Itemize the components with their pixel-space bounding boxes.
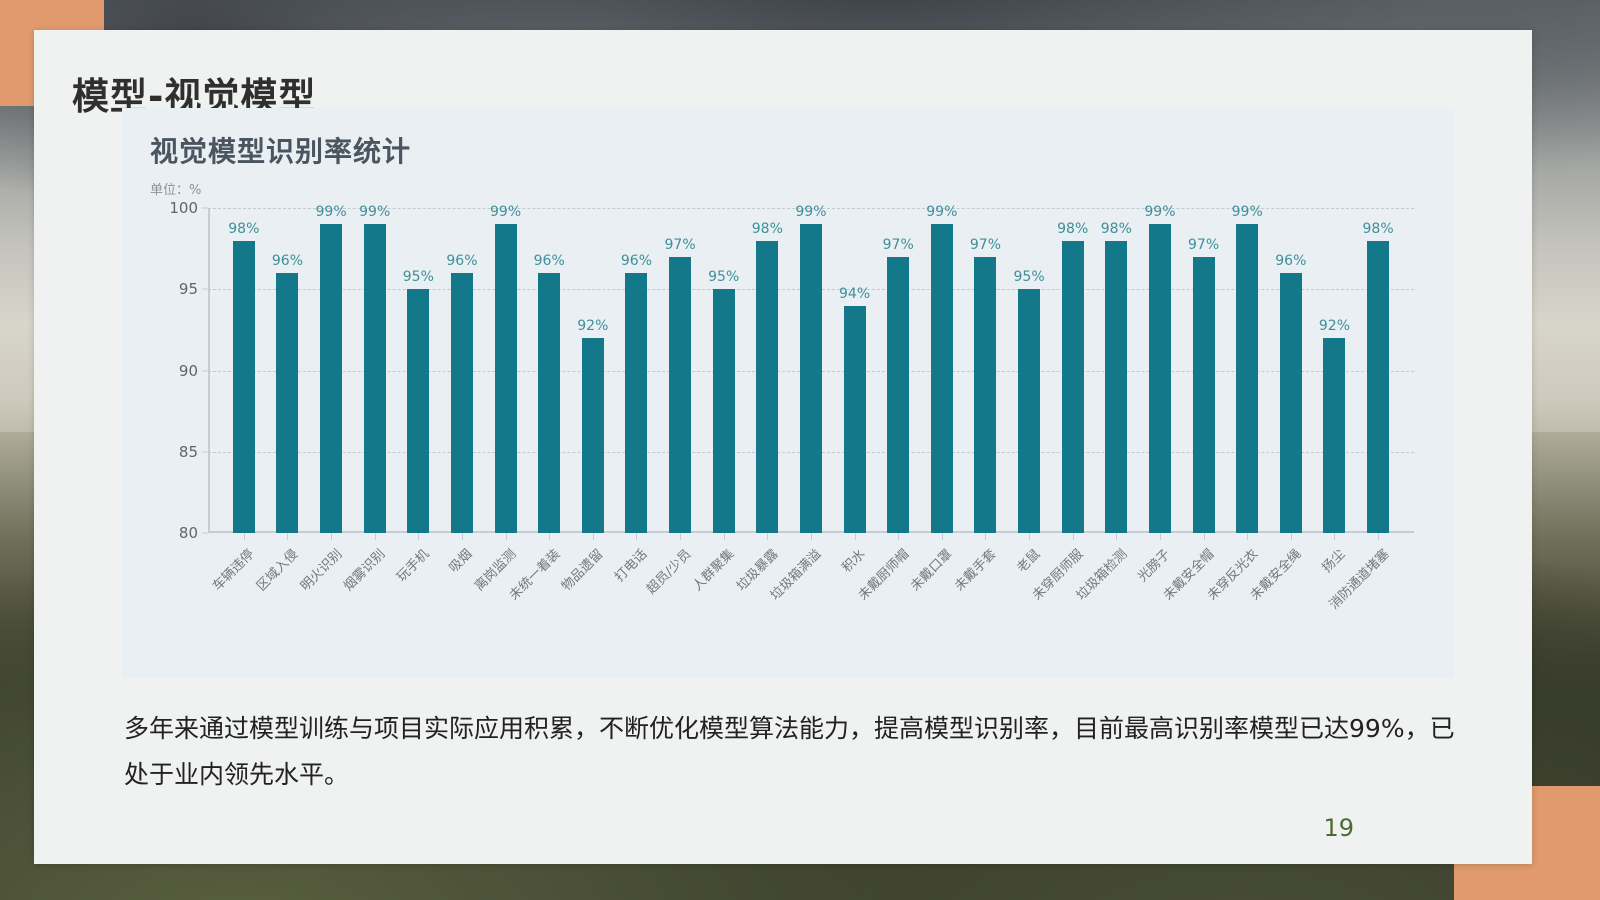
- bar[interactable]: 99%: [931, 224, 953, 533]
- x-axis-tick-label: 扬尘: [1317, 544, 1349, 576]
- x-axis-tick-mark: [375, 533, 376, 540]
- bar-slot: 97%未戴安全帽: [1182, 208, 1226, 533]
- chart-title: 视觉模型识别率统计: [150, 130, 411, 170]
- bar-slot: 92%扬尘: [1313, 208, 1357, 533]
- bar[interactable]: 99%: [495, 224, 517, 533]
- x-axis-tick-label: 区域入侵: [251, 544, 301, 594]
- bar-slot: 99%未戴口罩: [920, 208, 964, 533]
- bar[interactable]: 99%: [800, 224, 822, 533]
- bar-slot: 99%光膀子: [1138, 208, 1182, 533]
- x-axis-tick-mark: [898, 533, 899, 540]
- x-axis-tick-mark: [549, 533, 550, 540]
- bar-value-label: 96%: [1275, 253, 1306, 269]
- bar-value-label: 92%: [577, 318, 608, 334]
- bar-value-label: 97%: [883, 237, 914, 253]
- bar-value-label: 98%: [752, 221, 783, 237]
- bar-value-label: 92%: [1319, 318, 1350, 334]
- bar-slot: 99%垃圾箱满溢: [789, 208, 833, 533]
- x-axis-tick-mark: [680, 533, 681, 540]
- chart-plot-area: 80859095100 98%车辆违停96%区域入侵99%明火识别99%烟雾识别…: [208, 208, 1414, 533]
- bar[interactable]: 97%: [1193, 257, 1215, 533]
- x-axis-tick-mark: [636, 533, 637, 540]
- bar-value-label: 98%: [1101, 221, 1132, 237]
- x-axis-tick-mark: [767, 533, 768, 540]
- bar[interactable]: 98%: [1367, 241, 1389, 534]
- bar-slot: 99%离岗监测: [484, 208, 528, 533]
- x-axis-tick-label: 老鼠: [1011, 544, 1043, 576]
- bar-value-label: 99%: [795, 204, 826, 220]
- chart-header: 视觉模型识别率统计 单位：%: [150, 130, 411, 198]
- x-axis-tick-mark: [287, 533, 288, 540]
- bar[interactable]: 95%: [713, 289, 735, 533]
- bar-slot: 99%烟雾识别: [353, 208, 397, 533]
- slide-content-panel: 模型-视觉模型 视觉模型识别率统计 单位：% 80859095100 98%车辆…: [34, 30, 1532, 864]
- bar-value-label: 99%: [926, 204, 957, 220]
- bar[interactable]: 96%: [1280, 273, 1302, 533]
- chart-unit-label: 单位：%: [150, 179, 411, 198]
- bar[interactable]: 99%: [364, 224, 386, 533]
- bar-series: 98%车辆违停96%区域入侵99%明火识别99%烟雾识别95%玩手机96%吸烟9…: [208, 208, 1414, 533]
- bar-value-label: 96%: [621, 253, 652, 269]
- bar-value-label: 97%: [665, 237, 696, 253]
- bar[interactable]: 96%: [451, 273, 473, 533]
- bar-slot: 95%老鼠: [1007, 208, 1051, 533]
- y-axis-tick-label: 100: [169, 199, 198, 217]
- x-axis-tick-mark: [1291, 533, 1292, 540]
- x-axis-tick-mark: [244, 533, 245, 540]
- x-axis-tick-mark: [1247, 533, 1248, 540]
- x-axis-tick-mark: [1029, 533, 1030, 540]
- bar-value-label: 99%: [316, 204, 347, 220]
- y-axis-tick-label: 85: [179, 443, 198, 461]
- bar-value-label: 96%: [446, 253, 477, 269]
- bar-slot: 96%打电话: [615, 208, 659, 533]
- bar[interactable]: 99%: [1149, 224, 1171, 533]
- y-axis-tick-label: 90: [179, 362, 198, 380]
- bar[interactable]: 95%: [407, 289, 429, 533]
- x-axis-tick-label: 玩手机: [391, 544, 432, 585]
- x-axis-tick-mark: [1378, 533, 1379, 540]
- x-axis-tick-label: 物品遗留: [557, 544, 607, 594]
- bar-value-label: 99%: [490, 204, 521, 220]
- bar[interactable]: 96%: [276, 273, 298, 533]
- bar[interactable]: 92%: [1323, 338, 1345, 533]
- bar[interactable]: 95%: [1018, 289, 1040, 533]
- bar-value-label: 95%: [403, 269, 434, 285]
- bar[interactable]: 96%: [625, 273, 647, 533]
- y-axis-tick-label: 95: [179, 280, 198, 298]
- bar[interactable]: 99%: [320, 224, 342, 533]
- bar-slot: 99%明火识别: [309, 208, 353, 533]
- bar[interactable]: 92%: [582, 338, 604, 533]
- x-axis-tick-mark: [942, 533, 943, 540]
- bar-value-label: 99%: [1144, 204, 1175, 220]
- x-axis-tick-mark: [593, 533, 594, 540]
- bar-slot: 96%区域入侵: [266, 208, 310, 533]
- bar-value-label: 99%: [359, 204, 390, 220]
- bar[interactable]: 97%: [669, 257, 691, 533]
- bar-slot: 98%未穿厨师服: [1051, 208, 1095, 533]
- x-axis-tick-mark: [811, 533, 812, 540]
- bar-value-label: 98%: [1057, 221, 1088, 237]
- bar-slot: 97%未戴手套: [964, 208, 1008, 533]
- bar-slot: 98%车辆违停: [222, 208, 266, 533]
- bar-slot: 97%超员/少员: [658, 208, 702, 533]
- bar-value-label: 98%: [1363, 221, 1394, 237]
- x-axis-tick-mark: [1160, 533, 1161, 540]
- bar-slot: 95%人群聚集: [702, 208, 746, 533]
- y-axis-tick-label: 80: [179, 524, 198, 542]
- bar-slot: 96%未统一着装: [527, 208, 571, 533]
- x-axis-tick-label: 超员/少员: [641, 544, 694, 597]
- x-axis-tick-mark: [1116, 533, 1117, 540]
- bar-slot: 98%垃圾暴露: [746, 208, 790, 533]
- x-axis-tick-label: 吸烟: [444, 544, 476, 576]
- body-paragraph: 多年来通过模型训练与项目实际应用积累，不断优化模型算法能力，提高模型识别率，目前…: [124, 706, 1464, 798]
- bar[interactable]: 98%: [756, 241, 778, 534]
- chart-card: 视觉模型识别率统计 单位：% 80859095100 98%车辆违停96%区域入…: [122, 108, 1454, 678]
- x-axis-tick-mark: [1073, 533, 1074, 540]
- bar[interactable]: 99%: [1236, 224, 1258, 533]
- x-axis-tick-mark: [331, 533, 332, 540]
- bar-value-label: 95%: [1014, 269, 1045, 285]
- bar-slot: 94%积水: [833, 208, 877, 533]
- bar-value-label: 97%: [1188, 237, 1219, 253]
- x-axis-tick-mark: [418, 533, 419, 540]
- bar-slot: 95%玩手机: [397, 208, 441, 533]
- bar-slot: 96%吸烟: [440, 208, 484, 533]
- bar-value-label: 99%: [1232, 204, 1263, 220]
- bar-slot: 97%未戴厨师帽: [876, 208, 920, 533]
- bar[interactable]: 94%: [844, 306, 866, 534]
- x-axis-tick-mark: [985, 533, 986, 540]
- bar-slot: 98%垃圾箱检测: [1095, 208, 1139, 533]
- page-number: 19: [1323, 814, 1354, 842]
- bar-slot: 99%未穿反光衣: [1225, 208, 1269, 533]
- bar-value-label: 96%: [534, 253, 565, 269]
- bar-value-label: 97%: [970, 237, 1001, 253]
- bar-value-label: 95%: [708, 269, 739, 285]
- bar[interactable]: 98%: [233, 241, 255, 534]
- x-axis-tick-mark: [855, 533, 856, 540]
- bar-slot: 96%未戴安全绳: [1269, 208, 1313, 533]
- x-axis-tick-label: 未戴手套: [949, 544, 999, 594]
- x-axis-tick-label: 明火识别: [295, 544, 345, 594]
- x-axis-tick-label: 烟雾识别: [338, 544, 388, 594]
- bar[interactable]: 98%: [1062, 241, 1084, 534]
- bar-slot: 98%消防通道堵塞: [1356, 208, 1400, 533]
- bar[interactable]: 97%: [887, 257, 909, 533]
- bar-slot: 92%物品遗留: [571, 208, 615, 533]
- bar[interactable]: 98%: [1105, 241, 1127, 534]
- bar-value-label: 98%: [228, 221, 259, 237]
- bar[interactable]: 96%: [538, 273, 560, 533]
- x-axis-tick-mark: [724, 533, 725, 540]
- x-axis-tick-label: 积水: [837, 544, 869, 576]
- bar[interactable]: 97%: [974, 257, 996, 533]
- x-axis-tick-label: 未戴口罩: [906, 544, 956, 594]
- x-axis-tick-mark: [462, 533, 463, 540]
- x-axis-tick-mark: [1204, 533, 1205, 540]
- bar-value-label: 96%: [272, 253, 303, 269]
- x-axis-tick-label: 车辆违停: [208, 544, 258, 594]
- x-axis-tick-label: 人群聚集: [687, 544, 737, 594]
- x-axis-tick-mark: [506, 533, 507, 540]
- bar-value-label: 94%: [839, 286, 870, 302]
- x-axis-tick-mark: [1334, 533, 1335, 540]
